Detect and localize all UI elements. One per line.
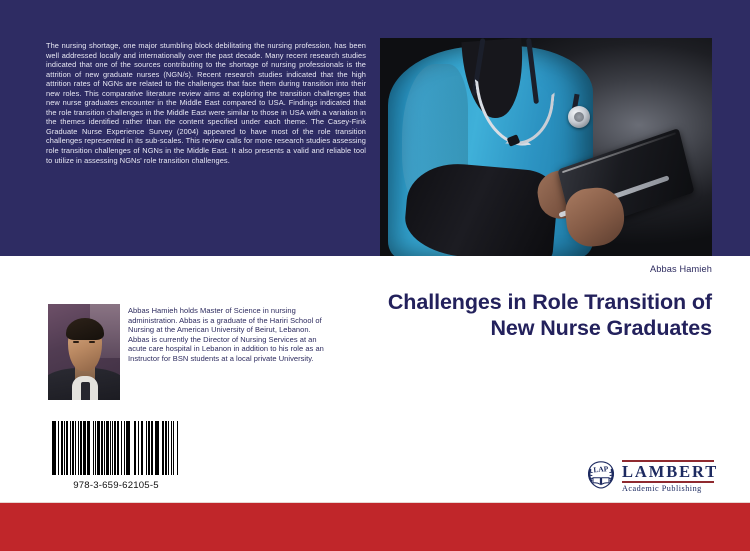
isbn-barcode-block: 978-3-659-62105-5 bbox=[52, 421, 180, 495]
svg-text:LAP: LAP bbox=[593, 464, 609, 474]
book-cover: The nursing shortage, one major stumblin… bbox=[0, 0, 750, 551]
publisher-logo: LAP LAMBERT Academic Publishing bbox=[583, 458, 715, 494]
portrait-necktie bbox=[81, 382, 90, 400]
barcode-bars bbox=[52, 421, 180, 475]
author-bio-text: Abbas Hamieh holds Master of Science in … bbox=[128, 306, 333, 364]
publisher-rule-bottom bbox=[622, 481, 714, 483]
black-undershirt-sleeve bbox=[402, 160, 559, 256]
bottom-red-band bbox=[0, 503, 750, 551]
lap-laurel-emblem-icon: LAP bbox=[583, 460, 619, 492]
cover-photograph bbox=[380, 38, 712, 256]
isbn-number: 978-3-659-62105-5 bbox=[52, 480, 180, 491]
front-cover-author-name: Abbas Hamieh bbox=[380, 264, 712, 274]
book-title: Challenges in Role Transition of New Nur… bbox=[380, 289, 712, 341]
author-portrait bbox=[48, 304, 120, 400]
publisher-subtitle: Academic Publishing bbox=[622, 484, 718, 493]
stethoscope-chestpiece-icon bbox=[568, 106, 590, 128]
publisher-name: LAMBERT bbox=[622, 463, 718, 480]
back-cover-blurb: The nursing shortage, one major stumblin… bbox=[46, 41, 366, 165]
